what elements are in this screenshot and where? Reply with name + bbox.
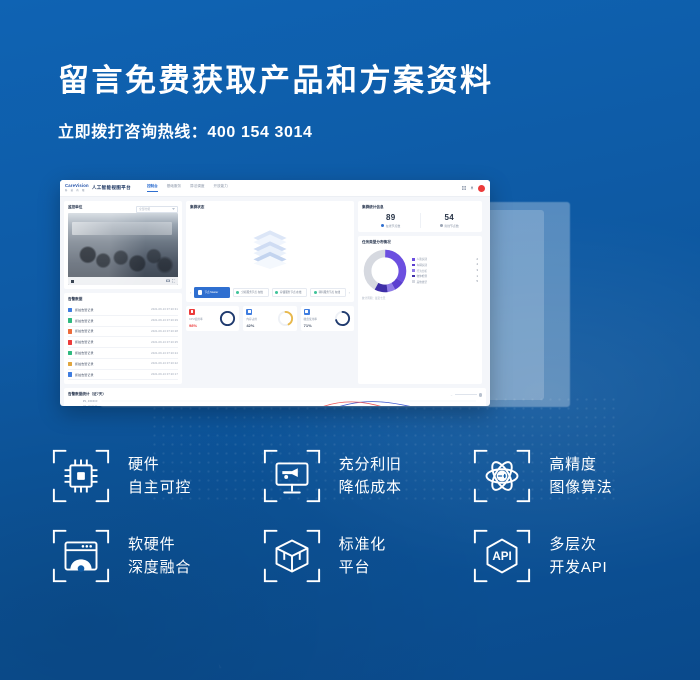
alarm-time: 2021-09-13 07:20:17 — [151, 373, 178, 376]
node-tab-label: 转码服务节点 在线 — [319, 291, 340, 294]
gauge-label: CPU使用率 — [189, 317, 203, 321]
stat-label: 在线节点数 — [386, 224, 400, 228]
legend-swatch — [412, 269, 415, 272]
alarm-list-title: 告警数据 — [68, 297, 178, 302]
chip-icon — [50, 445, 112, 507]
snapshot-icon[interactable] — [166, 279, 170, 282]
list-item[interactable]: 抓拍告警记录 2021-09-13 07:20:24 — [68, 348, 178, 359]
list-item[interactable]: 抓拍告警记录 2021-09-13 07:20:31 — [68, 305, 178, 316]
feature-item-integration: 软硬件 深度融合 — [34, 525, 245, 587]
legend-label: 人脸识别 — [417, 257, 475, 261]
dashboard-nav: 控制台 基础服务 算法调度 开放能力 — [147, 184, 228, 192]
svg-text:8,000: 8,000 — [83, 400, 98, 403]
svg-text:API: API — [493, 550, 512, 563]
video-right-controls — [166, 279, 175, 282]
alarm-type-icon — [68, 372, 72, 377]
list-item[interactable]: 抓拍告警记录 2021-09-13 07:20:25 — [68, 337, 178, 348]
list-item[interactable]: 抓拍告警记录 2021-09-13 07:20:28 — [68, 327, 178, 338]
feature-item-reuse: 充分利旧 降低成本 — [245, 445, 456, 507]
legend-swatch — [412, 280, 415, 283]
alarm-label: 抓拍告警记录 — [75, 362, 148, 366]
task-donut-chart — [362, 248, 408, 294]
gauge-label: 内存占用 — [246, 317, 257, 321]
feature-line2: 降低成本 — [339, 476, 402, 499]
page-title: 留言免费获取产品和方案资料 — [58, 62, 494, 99]
api-hex-icon: API — [471, 525, 533, 587]
gauge-info: CPU使用率 98% — [189, 309, 203, 328]
feature-text: 硬件 自主可控 — [128, 453, 191, 500]
record-icon[interactable] — [71, 280, 74, 283]
gauge-info: 磁盘使用率 71% — [304, 309, 317, 328]
legend-item: 其他类型 5 — [412, 280, 478, 284]
legend-label: 行为分析 — [417, 269, 475, 273]
feature-line2: 图像算法 — [549, 476, 612, 499]
gauge-ring — [334, 310, 351, 327]
gauge-ring — [277, 310, 294, 327]
stat-online: 89 在线节点数 — [362, 213, 420, 228]
cluster-stats-card: 集群统计信息 89 在线节点数 54 — [358, 201, 482, 232]
monitor-unit-title: 监控单位 — [68, 205, 82, 210]
monitor-card-header: 监控单位 全部分组 — [68, 205, 178, 213]
memory-icon — [246, 309, 252, 315]
svg-text:7,000: 7,000 — [83, 405, 98, 406]
legend-item: 车辆识别 4 — [412, 263, 478, 267]
feature-text: 软硬件 深度融合 — [128, 533, 191, 580]
cluster-stats-title: 集群统计信息 — [362, 205, 478, 210]
alarm-type-icon — [68, 362, 72, 367]
node-tabstrip: ‹ 节点 Master 分析服务节点 在线 存储服务节点 在线 — [190, 287, 350, 298]
gauge-info: 内存占用 42% — [246, 309, 257, 328]
monitor-unit-card: 监控单位 全部分组 — [64, 201, 182, 289]
dashboard-window: CareVision 科 技 有 限 人工智能视图平台 控制台 基础服务 算法调… — [60, 180, 490, 406]
node-tab-storage[interactable]: 存储服务节点 在线 — [272, 288, 308, 297]
online-dot-icon — [381, 224, 384, 227]
list-item[interactable]: 抓拍告警记录 2021-09-13 07:20:29 — [68, 316, 178, 327]
alarm-type-icon — [68, 351, 72, 356]
feature-line1: 多层次 — [549, 533, 607, 556]
status-dot-icon — [275, 291, 278, 294]
legend-value: 4 — [477, 263, 478, 266]
alarm-label: 抓拍告警记录 — [75, 373, 148, 377]
video-controls-bar — [68, 277, 178, 285]
feature-line1: 充分利旧 — [339, 453, 402, 476]
stat-value: 89 — [362, 213, 420, 222]
status-dot-icon — [314, 291, 317, 294]
feature-text: 多层次 开发API — [549, 533, 607, 580]
node-tab-label: 节点 Master — [204, 291, 218, 294]
gauge-row: CPU使用率 98% 内存占用 42% — [186, 306, 354, 331]
alarm-label: 抓拍告警记录 — [75, 329, 148, 333]
logo-subtext: 科 技 有 限 — [65, 188, 89, 192]
legend-swatch — [412, 264, 415, 267]
brand-logo[interactable]: CareVision 科 技 有 限 人工智能视图平台 — [65, 184, 131, 192]
alarm-type-icon — [68, 308, 72, 313]
donut-legend: 人脸识别 2 车辆识别 4 行为分析 3 — [412, 257, 478, 283]
legend-value: 2 — [477, 258, 478, 261]
node-icon — [198, 290, 203, 295]
feature-line2: 开发API — [549, 556, 607, 579]
legend-label: 其他类型 — [417, 280, 475, 284]
alarm-label: 抓拍告警记录 — [75, 308, 148, 312]
cluster-illustration — [190, 213, 350, 285]
layer-stack-icon — [249, 229, 291, 269]
gauge-value: 71% — [304, 323, 317, 328]
dashboard-middle-column: 集群状态 — [186, 201, 354, 384]
nav-item-algorithm[interactable]: 算法调度 — [190, 184, 204, 192]
feature-grid: 硬件 自主可控 充分利旧 降低成本 — [0, 445, 700, 587]
legend-value: 3 — [477, 269, 478, 272]
slider-track[interactable] — [455, 394, 477, 395]
alarm-type-icon — [68, 340, 72, 345]
list-item[interactable]: 抓拍告警记录 2021-09-13 07:20:17 — [68, 370, 178, 381]
feature-text: 充分利旧 降低成本 — [339, 453, 402, 500]
group-select[interactable]: 全部分组 — [136, 206, 178, 213]
node-tab-transcode[interactable]: 转码服务节点 在线 — [310, 288, 346, 297]
minus-icon[interactable]: − — [451, 393, 453, 397]
bell-icon[interactable] — [470, 186, 474, 190]
alarm-list-card: 告警数据 抓拍告警记录 2021-09-13 07:20:31 抓拍告警记录 2… — [64, 293, 182, 384]
avatar[interactable] — [478, 185, 485, 192]
feature-item-algorithm: 高精度 图像算法 — [455, 445, 666, 507]
node-tab-label: 存储服务节点 在线 — [280, 291, 301, 294]
product-name: 人工智能视图平台 — [92, 185, 131, 191]
chart-zoom-slider[interactable]: − — [451, 393, 482, 397]
dashboard-topbar: CareVision 科 技 有 限 人工智能视图平台 控制台 基础服务 算法调… — [60, 180, 490, 197]
alarm-time: 2021-09-13 07:20:24 — [151, 352, 178, 355]
feature-item-api: API 多层次 开发API — [455, 525, 666, 587]
stat-label-wrap: 在线节点数 — [362, 224, 420, 228]
dashboard-screenshot-group: CareVision 科 技 有 限 人工智能视图平台 控制台 基础服务 算法调… — [60, 180, 640, 410]
hero-block: 留言免费获取产品和方案资料 立即拨打咨询热线：400 154 3014 — [58, 62, 494, 142]
donut-title: 任务类型分布情况 — [362, 240, 478, 245]
nav-item-open-capability[interactable]: 开放能力 — [214, 184, 228, 192]
topbar-actions — [462, 185, 485, 192]
node-tab-master[interactable]: 节点 Master — [194, 287, 230, 298]
cluster-status-title: 集群状态 — [190, 205, 350, 210]
fullscreen-icon[interactable] — [172, 279, 175, 282]
alarm-list: 抓拍告警记录 2021-09-13 07:20:31 抓拍告警记录 2021-0… — [68, 305, 178, 380]
tabstrip-prev-icon[interactable]: ‹ — [190, 290, 191, 295]
gauge-value: 42% — [246, 323, 257, 328]
feature-line1: 硬件 — [128, 453, 191, 476]
slider-knob[interactable] — [479, 393, 483, 397]
node-tab-analysis[interactable]: 分析服务节点 在线 — [233, 288, 269, 297]
legend-swatch — [412, 275, 415, 278]
list-item[interactable]: 抓拍告警记录 2021-09-13 07:20:22 — [68, 359, 178, 370]
alarm-time: 2021-09-13 07:20:29 — [151, 319, 178, 322]
gauge-disk: 磁盘使用率 71% — [301, 306, 354, 331]
feature-text: 标准化 平台 — [339, 533, 386, 580]
legend-label: 车辆识别 — [417, 263, 475, 267]
feature-text: 高精度 图像算法 — [549, 453, 612, 500]
alarm-time: 2021-09-13 07:20:31 — [151, 308, 178, 311]
donut-note: 统计周期：最近七天 — [362, 296, 478, 300]
alarm-type-icon — [68, 329, 72, 334]
stat-label-wrap: 离线节点数 — [421, 224, 479, 228]
task-distribution-card: 任务类型分布情况 人脸识别 — [358, 236, 482, 385]
video-preview[interactable] — [68, 213, 178, 285]
feature-item-hardware: 硬件 自主可控 — [34, 445, 245, 507]
feature-line2: 深度融合 — [128, 556, 191, 579]
gauge-cpu: CPU使用率 98% — [186, 306, 239, 331]
stat-value: 54 — [421, 213, 479, 222]
alarm-label: 抓拍告警记录 — [75, 351, 148, 355]
legend-label: 物体检测 — [417, 274, 475, 278]
dashboard-left-column: 监控单位 全部分组 — [64, 201, 182, 384]
chart-title: 告警数据统计（近7天） — [68, 392, 106, 397]
dashboard-right-column: 集群统计信息 89 在线节点数 54 — [358, 201, 482, 384]
feature-line1: 标准化 — [339, 533, 386, 556]
feature-line2: 平台 — [339, 556, 386, 579]
group-select-value: 全部分组 — [139, 207, 150, 211]
legend-value: 1 — [477, 275, 478, 278]
alarm-label: 抓拍告警记录 — [75, 319, 148, 323]
alarm-time: 2021-09-13 07:20:28 — [151, 330, 178, 333]
gauge-value: 98% — [189, 323, 203, 328]
gauge-label: 磁盘使用率 — [304, 317, 317, 321]
legend-swatch — [412, 258, 415, 261]
stat-label: 离线节点数 — [444, 224, 458, 228]
monitor-camera-icon — [261, 445, 323, 507]
node-tab-label: 分析服务节点 在线 — [241, 291, 262, 294]
feature-item-platform: 标准化 平台 — [245, 525, 456, 587]
dashboard-body: 监控单位 全部分组 — [60, 197, 490, 388]
gauge-ring — [219, 310, 236, 327]
alarm-label: 抓拍告警记录 — [75, 340, 148, 344]
legend-item: 行为分析 3 — [412, 269, 478, 273]
window-gear-icon — [50, 525, 112, 587]
cluster-status-card: 集群状态 — [186, 201, 354, 302]
alarm-type-icon — [68, 318, 72, 323]
donut-wrap: 人脸识别 2 车辆识别 4 行为分析 3 — [362, 248, 478, 294]
status-dot-icon — [236, 291, 239, 294]
chart-strip: 告警数据统计（近7天） − — [60, 388, 490, 406]
alarm-time: 2021-09-13 07:20:22 — [151, 362, 178, 365]
alarm-trend-card: 告警数据统计（近7天） − — [64, 388, 486, 406]
offline-dot-icon — [440, 224, 443, 227]
legend-item: 人脸识别 2 — [412, 257, 478, 261]
legend-value: 5 — [477, 280, 478, 283]
alarm-time: 2021-09-13 07:20:25 — [151, 341, 178, 344]
box-icon — [261, 525, 323, 587]
stat-row: 89 在线节点数 54 离线节点数 — [362, 213, 478, 228]
alarm-trend-chart: 8,0007,000 6,0005,000 4,0003,000 2,0001,… — [68, 397, 482, 406]
stat-offline: 54 离线节点数 — [420, 213, 479, 228]
hotline-text: 立即拨打咨询热线：400 154 3014 — [58, 118, 494, 142]
legend-item: 物体检测 1 — [412, 274, 478, 278]
nav-item-console[interactable]: 控制台 — [147, 184, 158, 192]
feature-line1: 软硬件 — [128, 533, 191, 556]
chevron-down-icon — [172, 208, 175, 210]
feature-line2: 自主可控 — [128, 476, 191, 499]
disk-icon — [304, 309, 310, 315]
tabstrip-next-icon[interactable]: › — [349, 290, 350, 295]
atom-icon — [471, 445, 533, 507]
nav-item-basic-service[interactable]: 基础服务 — [167, 184, 181, 192]
feature-line1: 高精度 — [549, 453, 612, 476]
grid-icon[interactable] — [462, 186, 466, 190]
gauge-memory: 内存占用 42% — [243, 306, 296, 331]
cpu-icon — [189, 309, 195, 315]
